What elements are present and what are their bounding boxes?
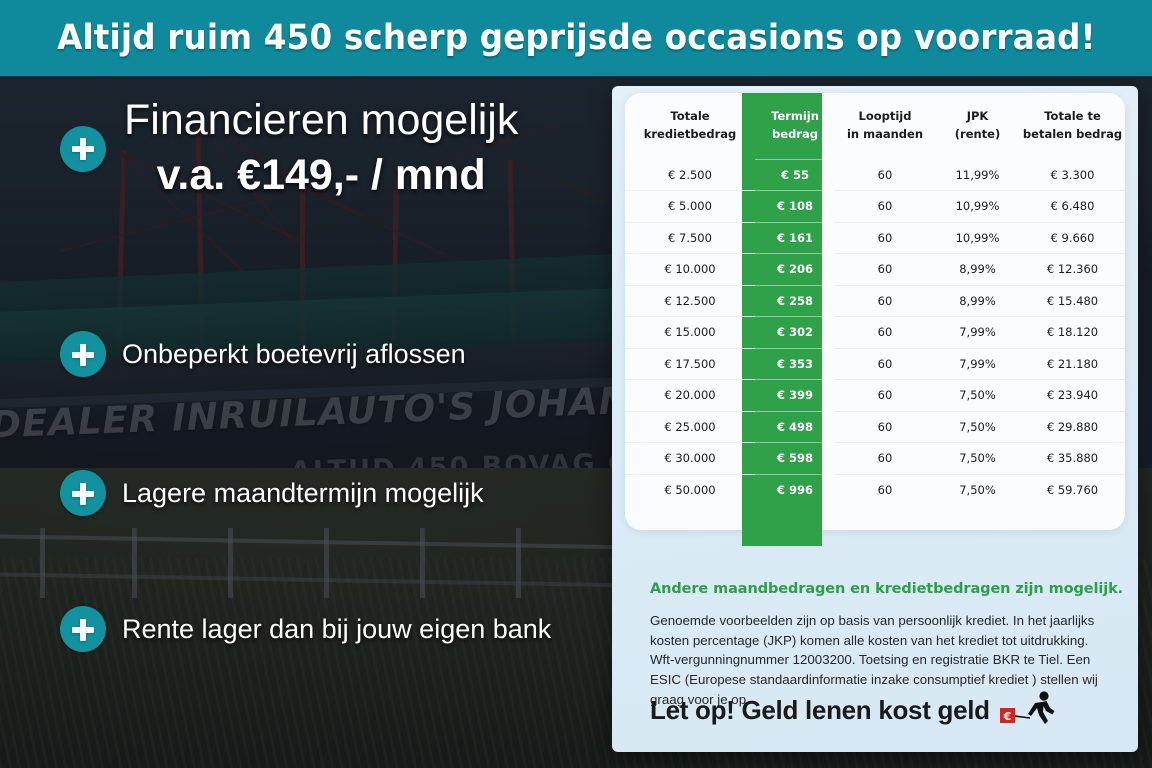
table-cell: € 15.000 — [625, 317, 755, 349]
header-line-2: in maanden — [835, 126, 935, 144]
header-line-1: Looptijd — [835, 108, 935, 126]
cell-term-amount: € 399 — [755, 380, 835, 412]
feature-item-1: Onbeperkt boetevrij aflossen — [60, 331, 466, 377]
column-header-term-amount: Termijn bedrag — [755, 93, 835, 159]
table-row: € 2.500€ 556011,99%€ 3.300 — [625, 159, 1125, 191]
rates-table-body: € 2.500€ 556011,99%€ 3.300€ 5.000€ 10860… — [625, 159, 1125, 506]
table-cell: 11,99% — [935, 159, 1020, 191]
table-cell: € 25.000 — [625, 411, 755, 443]
table-cell: € 29.880 — [1020, 411, 1125, 443]
table-cell: 60 — [835, 222, 935, 254]
table-cell: 7,50% — [935, 380, 1020, 412]
column-header-total-payable: Totale te betalen bedrag — [1020, 93, 1125, 159]
table-header-row: Totale kredietbedrag Termijn bedrag Loop… — [625, 93, 1125, 159]
table-cell: 7,50% — [935, 443, 1020, 475]
cell-term-amount: € 206 — [755, 254, 835, 286]
advertisement-banner: DEALER INRUILAUTO'S JOHAN MEURE ALTIJD 4… — [0, 0, 1152, 768]
table-cell: 7,50% — [935, 411, 1020, 443]
table-cell: 10,99% — [935, 191, 1020, 223]
table-row: € 50.000€ 996607,50%€ 59.760 — [625, 474, 1125, 506]
table-cell: € 5.000 — [625, 191, 755, 223]
cell-term-amount: € 353 — [755, 348, 835, 380]
headline-texts: Financieren mogelijk v.a. €149,- / mnd — [124, 96, 518, 201]
header-line-1: Totale — [625, 108, 755, 126]
running-man-pulling-euro-block-icon: € — [999, 690, 1057, 730]
table-row: € 12.500€ 258608,99%€ 15.480 — [625, 285, 1125, 317]
cell-term-amount: € 161 — [755, 222, 835, 254]
table-cell: € 15.480 — [1020, 285, 1125, 317]
table-cell: 60 — [835, 317, 935, 349]
table-cell: € 18.120 — [1020, 317, 1125, 349]
cell-term-amount: € 302 — [755, 317, 835, 349]
header-line-2: (rente) — [935, 126, 1020, 144]
header-line-1: JPK — [935, 108, 1020, 126]
top-banner: Altijd ruim 450 scherp geprijsde occasio… — [0, 0, 1152, 76]
feature-label: Lagere maandtermijn mogelijk — [122, 478, 484, 509]
table-cell: € 30.000 — [625, 443, 755, 475]
header-line-1: Termijn — [755, 108, 835, 126]
cell-term-amount: € 996 — [755, 474, 835, 506]
table-row: € 25.000€ 498607,50%€ 29.880 — [625, 411, 1125, 443]
plus-icon — [60, 470, 106, 516]
table-cell: € 3.300 — [1020, 159, 1125, 191]
banner-headline: Altijd ruim 450 scherp geprijsde occasio… — [57, 18, 1096, 58]
cell-term-amount: € 55 — [755, 159, 835, 191]
column-header-duration: Looptijd in maanden — [835, 93, 935, 159]
header-line-1: Totale te — [1020, 108, 1125, 126]
cell-term-amount: € 108 — [755, 191, 835, 223]
headline-line-1: Financieren mogelijk — [124, 96, 518, 146]
table-cell: € 7.500 — [625, 222, 755, 254]
table-cell: € 50.000 — [625, 474, 755, 506]
feature-label: Rente lager dan bij jouw eigen bank — [122, 614, 551, 645]
table-cell: 8,99% — [935, 254, 1020, 286]
rates-table-head: Totale kredietbedrag Termijn bedrag Loop… — [625, 93, 1125, 159]
table-cell: € 20.000 — [625, 380, 755, 412]
feature-label: Onbeperkt boetevrij aflossen — [122, 339, 466, 370]
table-row: € 5.000€ 1086010,99%€ 6.480 — [625, 191, 1125, 223]
table-cell: 60 — [835, 474, 935, 506]
table-row: € 20.000€ 399607,50%€ 23.940 — [625, 380, 1125, 412]
table-row: € 7.500€ 1616010,99%€ 9.660 — [625, 222, 1125, 254]
feature-list: Financieren mogelijk v.a. €149,- / mnd O… — [0, 76, 615, 768]
table-cell: € 6.480 — [1020, 191, 1125, 223]
plus-icon — [60, 606, 106, 652]
headline-block: Financieren mogelijk v.a. €149,- / mnd — [60, 96, 518, 201]
feature-item-2: Lagere maandtermijn mogelijk — [60, 470, 484, 516]
table-cell: € 21.180 — [1020, 348, 1125, 380]
table-cell: 60 — [835, 348, 935, 380]
header-line-2: kredietbedrag — [625, 126, 755, 144]
column-header-jpk: JPK (rente) — [935, 93, 1020, 159]
svg-text:€: € — [1002, 710, 1011, 723]
header-line-2: bedrag — [755, 126, 835, 144]
column-header-total-credit: Totale kredietbedrag — [625, 93, 755, 159]
feature-item-3: Rente lager dan bij jouw eigen bank — [60, 606, 551, 652]
table-cell: 60 — [835, 443, 935, 475]
table-cell: € 23.940 — [1020, 380, 1125, 412]
table-cell: 60 — [835, 159, 935, 191]
cell-term-amount: € 598 — [755, 443, 835, 475]
table-cell: 60 — [835, 285, 935, 317]
table-cell: 60 — [835, 191, 935, 223]
table-cell: 60 — [835, 411, 935, 443]
table-cell: € 12.500 — [625, 285, 755, 317]
table-row: € 30.000€ 598607,50%€ 35.880 — [625, 443, 1125, 475]
table-cell: € 2.500 — [625, 159, 755, 191]
header-line-2: betalen bedrag — [1020, 126, 1125, 144]
table-cell: 7,99% — [935, 317, 1020, 349]
table-cell: € 9.660 — [1020, 222, 1125, 254]
table-cell: € 10.000 — [625, 254, 755, 286]
table-cell: € 35.880 — [1020, 443, 1125, 475]
financing-card: Totale kredietbedrag Termijn bedrag Loop… — [612, 86, 1138, 752]
cell-term-amount: € 498 — [755, 411, 835, 443]
footnote-title: Andere maandbedragen en kredietbedragen … — [650, 581, 1102, 597]
table-row: € 17.500€ 353607,99%€ 21.180 — [625, 348, 1125, 380]
table-cell: 10,99% — [935, 222, 1020, 254]
warning-text: Let op! Geld lenen kost geld — [650, 695, 990, 726]
table-cell: 8,99% — [935, 285, 1020, 317]
headline-line-2: v.a. €149,- / mnd — [124, 150, 518, 202]
table-cell: € 12.360 — [1020, 254, 1125, 286]
plus-icon — [60, 331, 106, 377]
cell-term-amount: € 258 — [755, 285, 835, 317]
warning-block: Let op! Geld lenen kost geld € — [650, 690, 1057, 730]
table-cell: 7,99% — [935, 348, 1020, 380]
rates-table: Totale kredietbedrag Termijn bedrag Loop… — [625, 93, 1125, 506]
table-cell: € 17.500 — [625, 348, 755, 380]
table-row: € 15.000€ 302607,99%€ 18.120 — [625, 317, 1125, 349]
plus-icon — [60, 126, 106, 172]
table-cell: 60 — [835, 380, 935, 412]
table-cell: € 59.760 — [1020, 474, 1125, 506]
table-row: € 10.000€ 206608,99%€ 12.360 — [625, 254, 1125, 286]
table-cell: 7,50% — [935, 474, 1020, 506]
table-cell: 60 — [835, 254, 935, 286]
